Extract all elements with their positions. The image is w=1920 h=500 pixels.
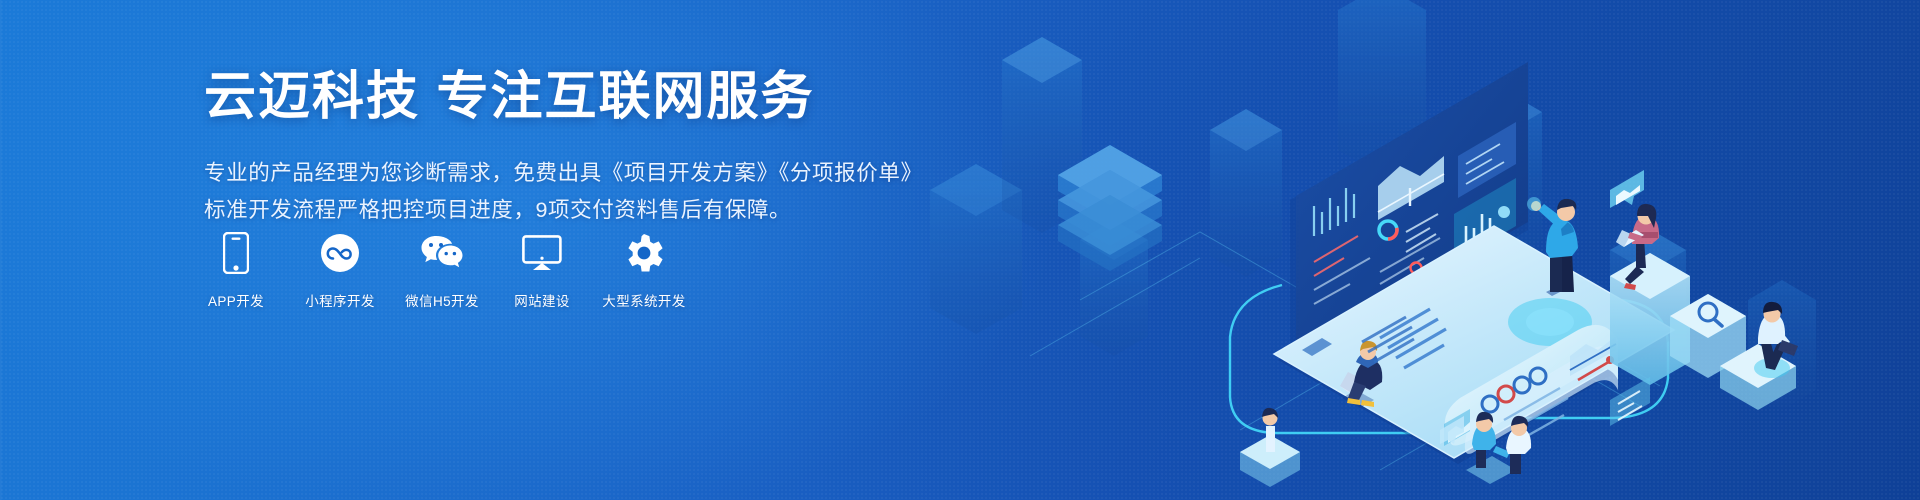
service-item-app[interactable]: APP开发 (200, 230, 272, 310)
monitor-icon (522, 230, 562, 276)
stage-person (1240, 408, 1300, 487)
service-list: APP开发 小程序开发 微信 (200, 230, 680, 310)
gear-icon (624, 230, 664, 276)
mobile-phone-icon (223, 230, 249, 276)
service-label: 网站建设 (514, 290, 570, 310)
service-item-website[interactable]: 网站建设 (506, 230, 578, 310)
banner-subtitle: 专业的产品经理为您诊断需求，免费出具《项目开发方案》《分项报价单》 标准开发流程… (204, 155, 1084, 229)
wechat-icon (420, 230, 464, 276)
page-title: 云迈科技 专注互联网服务 (204, 68, 1084, 128)
banner-text-block: 云迈科技 专注互联网服务 专业的产品经理为您诊断需求，免费出具《项目开发方案》《… (204, 68, 1084, 229)
service-item-mini-program[interactable]: 小程序开发 (304, 230, 376, 310)
service-label: 大型系统开发 (602, 290, 685, 310)
mini-program-icon (320, 230, 360, 276)
service-item-wechat-h5[interactable]: 微信H5开发 (406, 230, 478, 310)
service-label: 微信H5开发 (405, 290, 479, 310)
service-label: APP开发 (208, 290, 264, 310)
banner-subtitle-line-2: 标准开发流程严格把控项目进度，9项交付资料售后有保障。 (204, 192, 1084, 229)
service-label: 小程序开发 (305, 290, 375, 310)
service-item-large-system[interactable]: 大型系统开发 (608, 230, 680, 310)
banner-subtitle-line-1: 专业的产品经理为您诊断需求，免费出具《项目开发方案》《分项报价单》 (204, 155, 1084, 192)
promo-banner: 云迈科技 专注互联网服务 专业的产品经理为您诊断需求，免费出具《项目开发方案》《… (0, 0, 1920, 500)
